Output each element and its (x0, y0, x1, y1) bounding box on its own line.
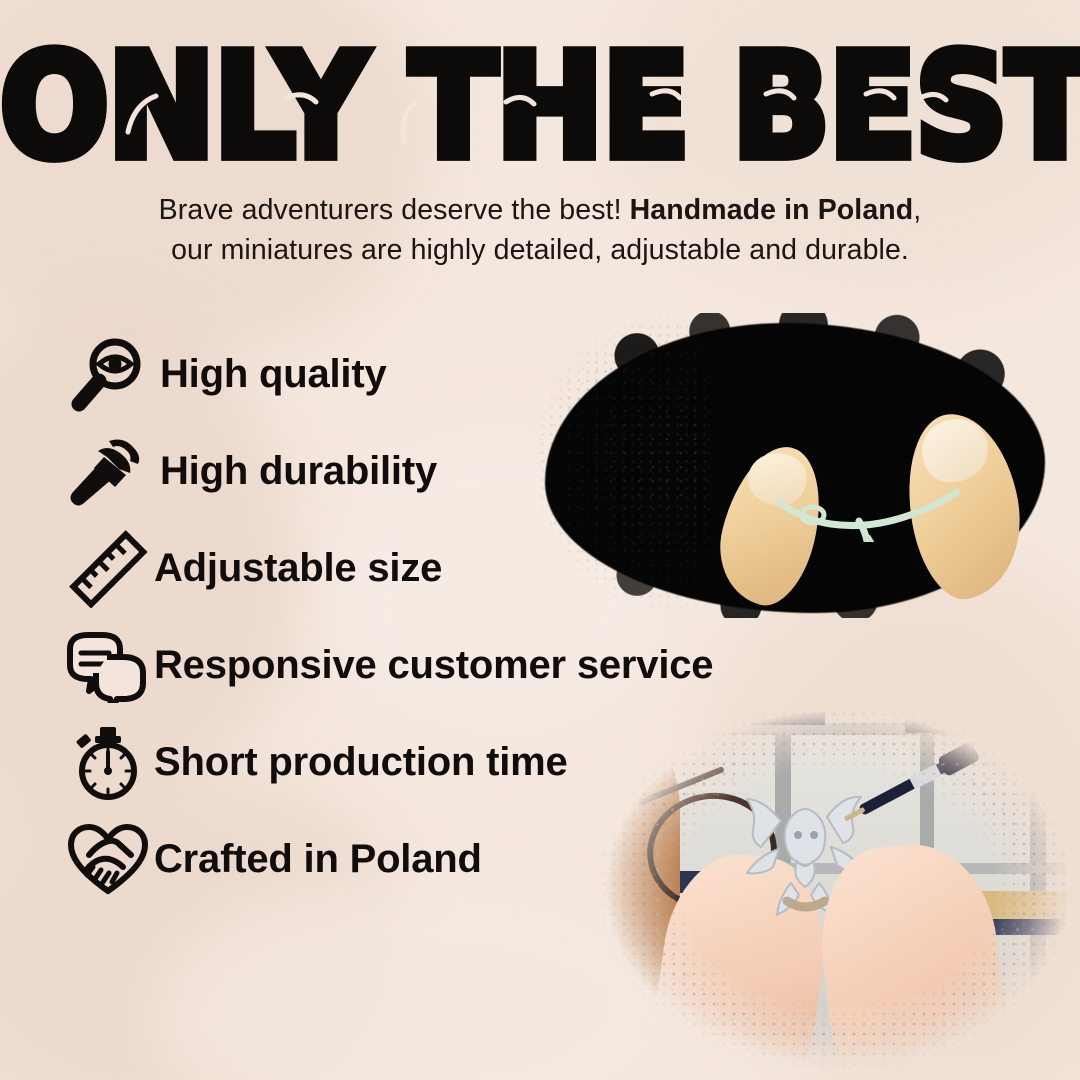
photo-edge-speckle (529, 313, 709, 613)
magnifier-eye-icon (62, 335, 154, 415)
shelf-miniature (730, 697, 744, 711)
workshop-painting-photo (575, 695, 1080, 1080)
handshake-heart-icon (62, 820, 154, 900)
ruler-icon (62, 529, 154, 609)
subtitle-line-1: Brave adventurers deserve the best! Hand… (159, 194, 922, 226)
hammer-icon (62, 432, 154, 512)
poster-subtitle: Brave adventurers deserve the best! Hand… (90, 190, 990, 271)
shelf-post (1030, 695, 1046, 995)
feature-label: High quality (160, 352, 387, 397)
flexible-miniature-photo (515, 305, 1075, 635)
feature-label: Responsive customer service (154, 643, 713, 688)
subtitle-highlight: Handmade in Poland (630, 194, 914, 226)
shelf-miniature (975, 701, 1009, 719)
miniature-tray (905, 715, 1045, 733)
feature-label: Crafted in Poland (154, 837, 482, 882)
subtitle-line-2: our miniatures are highly detailed, adju… (171, 234, 909, 266)
photo-clip (575, 695, 1080, 1080)
speech-bubbles-icon (62, 626, 154, 706)
promo-poster: ONLY THE BEST Brave adventurers deserve … (0, 0, 1080, 1080)
shelf-miniature (895, 703, 921, 719)
stopwatch-icon (62, 723, 154, 803)
flexible-miniature-part (773, 488, 963, 542)
shelf-miniature (775, 695, 791, 711)
feature-label: Adjustable size (154, 546, 442, 591)
poster-title: ONLY THE BEST (0, 36, 1080, 179)
feature-label: Short production time (154, 740, 568, 785)
feature-label: High durability (160, 449, 437, 494)
